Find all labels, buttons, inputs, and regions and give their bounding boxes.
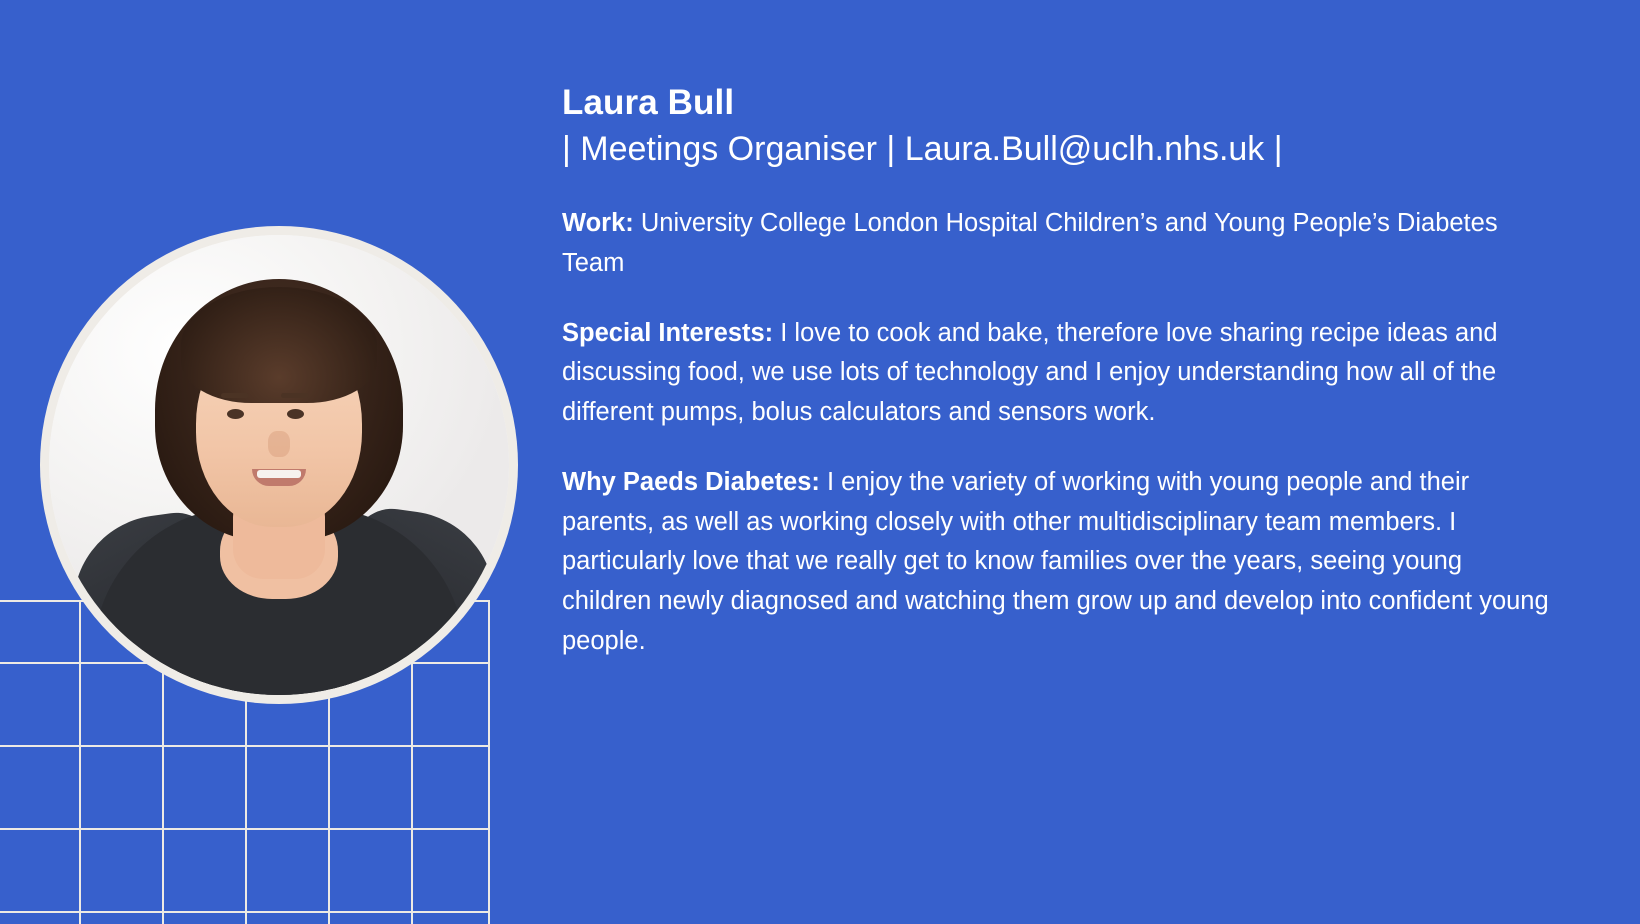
- eye-right: [287, 409, 304, 419]
- grid-line-horizontal: [0, 828, 490, 830]
- person-role-line: | Meetings Organiser | Laura.Bull@uclh.n…: [562, 129, 1552, 170]
- avatar: [40, 226, 518, 704]
- page-title: Laura Bull: [562, 82, 1552, 123]
- profile-slide: Laura Bull | Meetings Organiser | Laura.…: [0, 0, 1640, 924]
- grid-line-horizontal: [0, 745, 490, 747]
- portrait-photo: [49, 235, 509, 695]
- bio-section-work: Work: University College London Hospital…: [562, 204, 1552, 284]
- grid-line-horizontal: [0, 911, 490, 913]
- eyebrow-right: [281, 393, 309, 398]
- hair-front: [181, 287, 377, 403]
- bio-label-special-interests: Special Interests:: [562, 319, 773, 347]
- eye-left: [227, 409, 244, 419]
- mouth: [252, 469, 306, 486]
- teeth: [257, 470, 301, 478]
- eyebrow-left: [221, 393, 249, 398]
- bio-text-work: University College London Hospital Child…: [562, 209, 1498, 277]
- bio-label-why-paeds-diabetes: Why Paeds Diabetes:: [562, 468, 820, 496]
- bio-section-why-paeds-diabetes: Why Paeds Diabetes: I enjoy the variety …: [562, 463, 1552, 662]
- bio-section-special-interests: Special Interests: I love to cook and ba…: [562, 314, 1552, 433]
- profile-text-column: Laura Bull | Meetings Organiser | Laura.…: [562, 82, 1552, 662]
- bio-label-work: Work:: [562, 209, 634, 237]
- nose: [268, 431, 290, 457]
